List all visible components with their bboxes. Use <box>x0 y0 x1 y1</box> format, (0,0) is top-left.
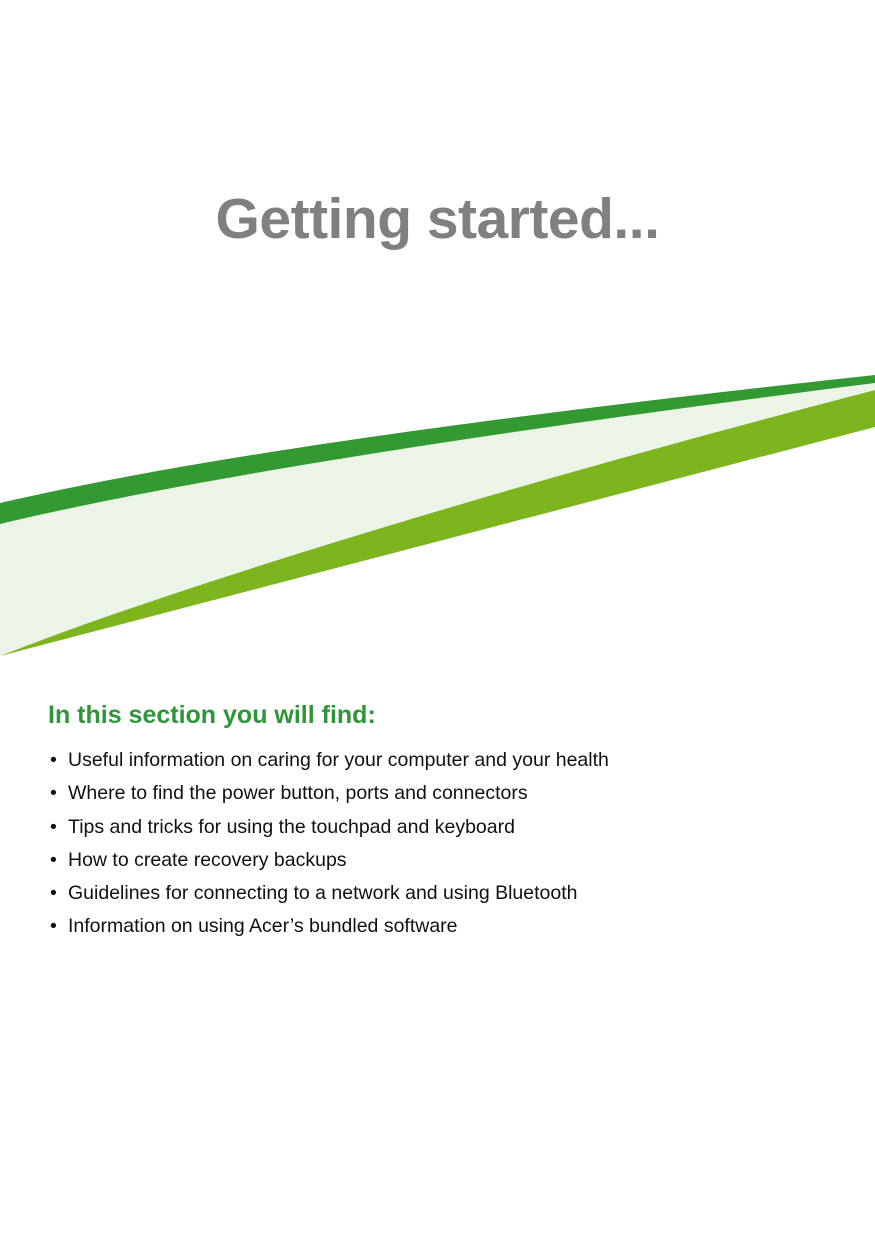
list-item-label: Information on using Acer’s bundled soft… <box>68 915 458 937</box>
list-item-label: Where to find the power button, ports an… <box>68 782 528 804</box>
swoosh-svg <box>0 360 875 670</box>
bullet-icon: • <box>50 910 62 943</box>
section-summary: In this section you will find: • Useful … <box>48 700 838 944</box>
list-item-label: How to create recovery backups <box>68 849 347 871</box>
document-page: Getting started... In this section you w… <box>0 0 875 1240</box>
list-item: • Information on using Acer’s bundled so… <box>48 910 838 943</box>
list-item-label: Useful information on caring for your co… <box>68 749 609 771</box>
section-bullet-list: • Useful information on caring for your … <box>48 744 838 944</box>
list-item: • Where to find the power button, ports … <box>48 777 838 810</box>
bullet-icon: • <box>50 744 62 777</box>
list-item-label: Tips and tricks for using the touchpad a… <box>68 816 515 838</box>
page-title: Getting started... <box>0 188 875 251</box>
bullet-icon: • <box>50 811 62 844</box>
list-item: • Guidelines for connecting to a network… <box>48 877 838 910</box>
section-heading: In this section you will find: <box>48 700 838 730</box>
list-item: • Tips and tricks for using the touchpad… <box>48 811 838 844</box>
list-item: • How to create recovery backups <box>48 844 838 877</box>
bullet-icon: • <box>50 844 62 877</box>
list-item: • Useful information on caring for your … <box>48 744 838 777</box>
bullet-icon: • <box>50 777 62 810</box>
bullet-icon: • <box>50 877 62 910</box>
list-item-label: Guidelines for connecting to a network a… <box>68 882 578 904</box>
green-swoosh-banner <box>0 360 875 670</box>
